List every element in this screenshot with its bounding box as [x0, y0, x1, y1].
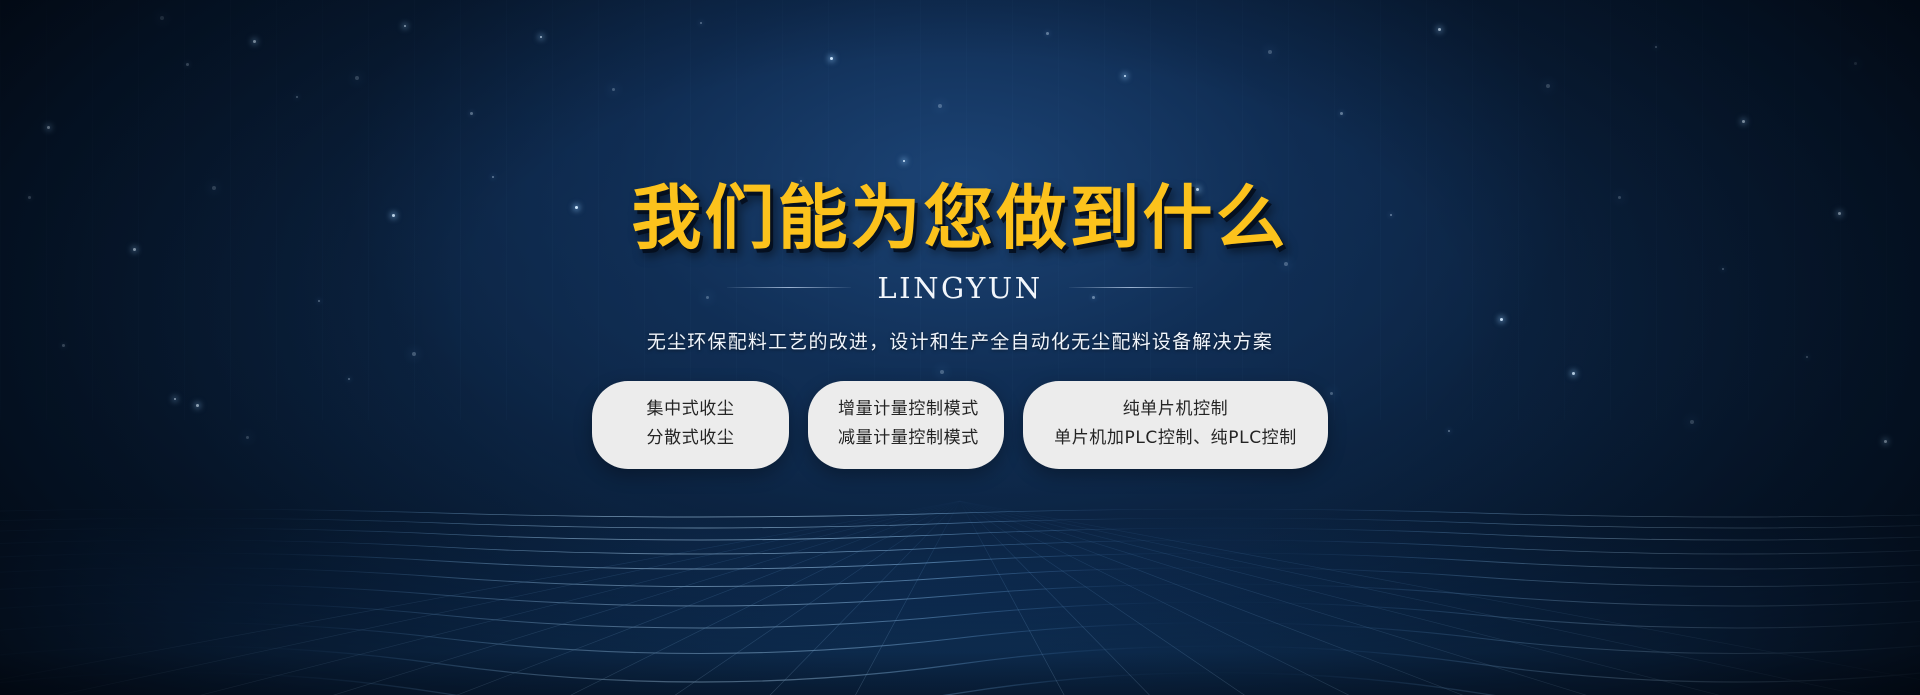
- feature-card-line-1: 集中式收尘: [622, 400, 759, 420]
- hero-content: 我们能为您做到什么 LINGYUN 无尘环保配料工艺的改进，设计和生产全自动化无…: [0, 0, 1920, 469]
- brand-row: LINGYUN: [0, 271, 1920, 305]
- ground-glow: [0, 515, 1920, 695]
- hero-description: 无尘环保配料工艺的改进，设计和生产全自动化无尘配料设备解决方案: [0, 327, 1920, 354]
- feature-card-line-2: 单片机加PLC控制、纯PLC控制: [1053, 429, 1298, 449]
- hero-banner: 我们能为您做到什么 LINGYUN 无尘环保配料工艺的改进，设计和生产全自动化无…: [0, 0, 1920, 695]
- page-title: 我们能为您做到什么: [0, 182, 1920, 255]
- feature-card-control-system[interactable]: 纯单片机控制 单片机加PLC控制、纯PLC控制: [1023, 381, 1328, 469]
- feature-card-line-2: 分散式收尘: [622, 429, 759, 449]
- ground-mesh-decoration: [0, 495, 1920, 695]
- feature-card-line-1: 纯单片机控制: [1053, 400, 1298, 420]
- feature-card-dust-collection[interactable]: 集中式收尘 分散式收尘: [592, 381, 789, 469]
- ground-mesh-svg: [0, 495, 1920, 695]
- feature-card-list: 集中式收尘 分散式收尘 增量计量控制模式 减量计量控制模式 纯单片机控制 单片机…: [0, 381, 1920, 469]
- brand-name: LINGYUN: [877, 271, 1042, 305]
- feature-card-metering-mode[interactable]: 增量计量控制模式 减量计量控制模式: [808, 381, 1004, 469]
- feature-card-line-2: 减量计量控制模式: [838, 429, 974, 449]
- divider-line-right: [1069, 287, 1193, 288]
- feature-card-line-1: 增量计量控制模式: [838, 400, 974, 420]
- divider-line-left: [727, 287, 851, 288]
